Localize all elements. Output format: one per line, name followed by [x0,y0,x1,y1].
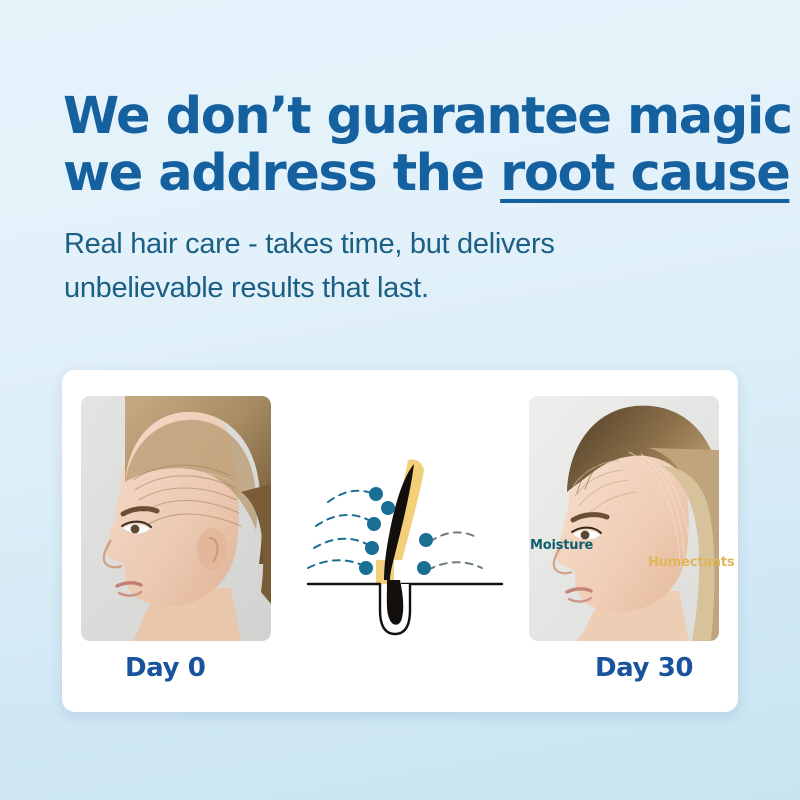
headline-underlined-phrase: root cause [500,144,789,203]
before-day-label: Day 0 [125,653,205,683]
subheading-line-2: unbelievable results that last. [64,266,704,310]
headline-line-1: We don’t guarantee magic [63,88,763,145]
promo-graphic: We don’t guarantee magic we address the … [0,0,800,800]
before-after-card: Day 0 Day 30 [62,370,738,712]
moisture-label: Moisture [530,538,593,553]
subheading-line-1: Real hair care - takes time, but deliver… [64,222,704,266]
headline-line-2-prefix: we address the [63,144,500,203]
after-day-label: Day 30 [595,653,693,683]
after-photo [529,396,719,641]
hair-follicle-diagram: Moisture Humectants [290,438,520,638]
before-photo [81,396,271,641]
subheading: Real hair care - takes time, but deliver… [64,222,704,310]
page-title: We don’t guarantee magic we address the … [63,88,763,202]
humectants-label: Humectants [648,555,734,570]
headline-line-2: we address the root cause [63,145,763,202]
